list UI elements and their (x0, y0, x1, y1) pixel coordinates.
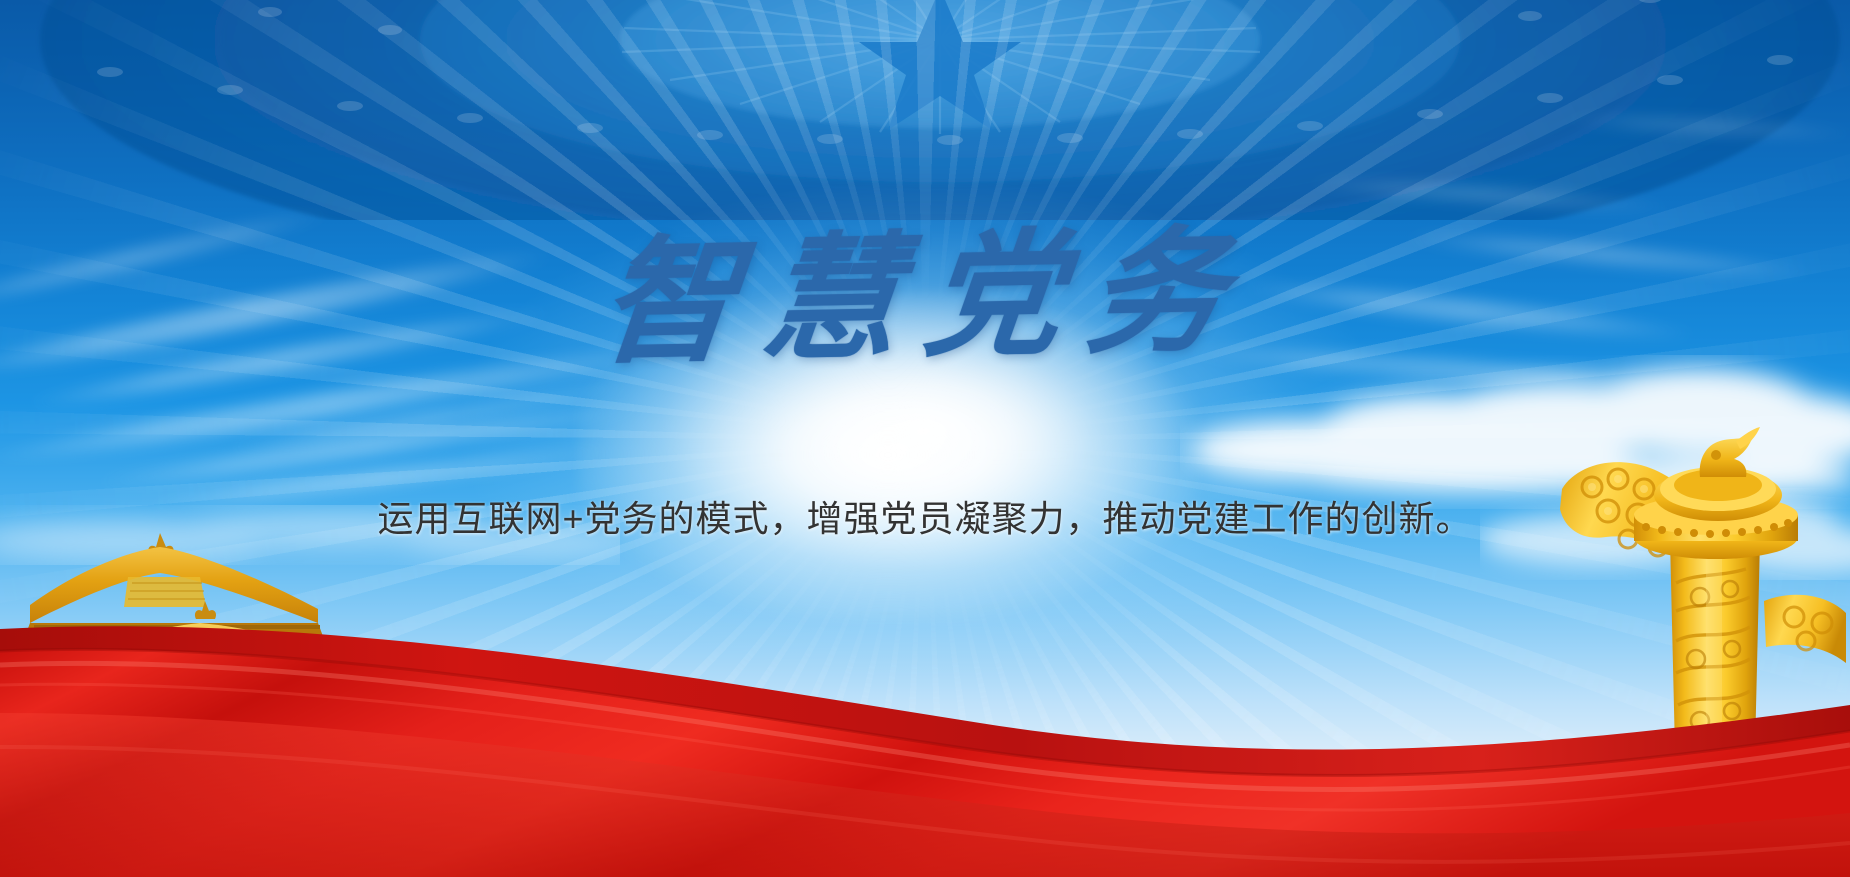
huabiao-top-beast (1700, 427, 1760, 477)
banner-root: 中华人民共和国万岁 世界人民大团结万岁 (0, 0, 1850, 877)
gate-banner-left: 中华人民共和国万岁 (204, 806, 365, 845)
huabiao-cloud-wing-right (1764, 595, 1846, 663)
page-subtitle: 运用互联网+党务的模式，增强党员凝聚力，推动党建工作的创新。 (0, 497, 1850, 540)
huabiao-pillar (1550, 397, 1850, 877)
